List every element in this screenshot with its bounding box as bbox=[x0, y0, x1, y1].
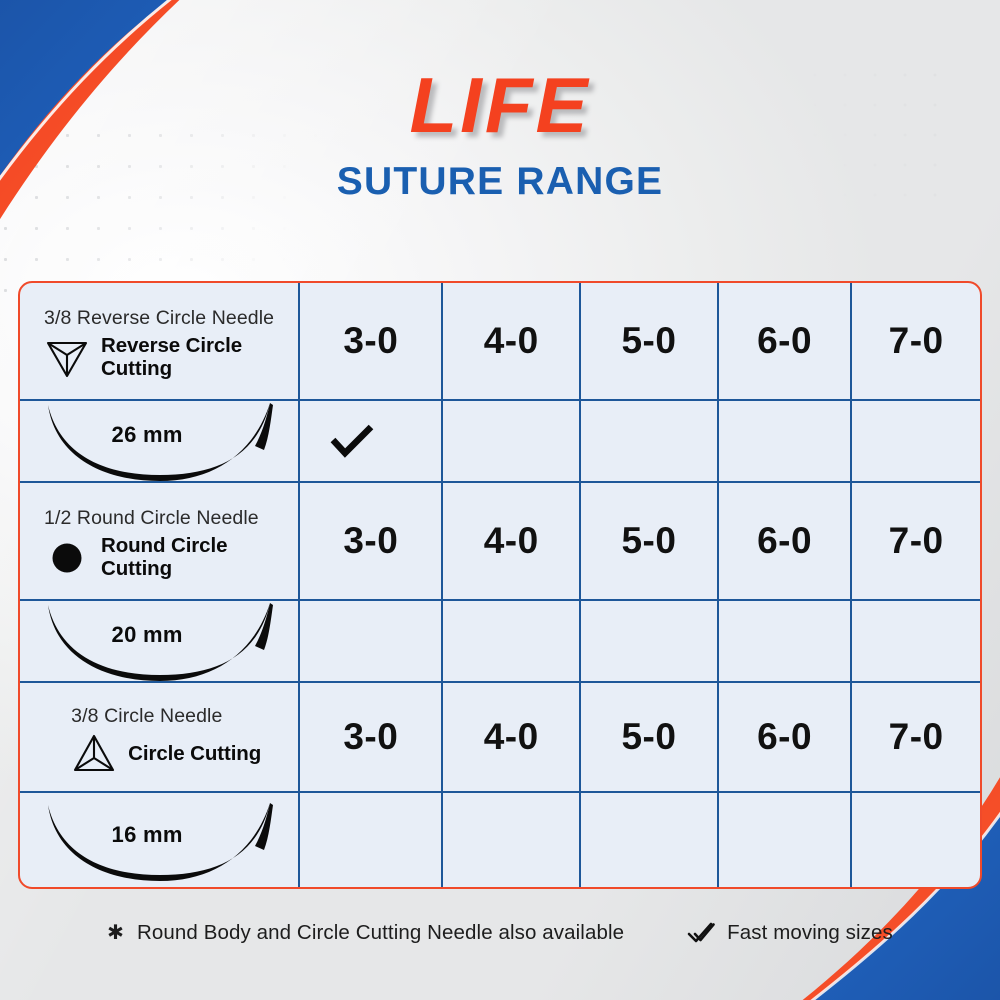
size-cell[interactable]: 7-0 bbox=[852, 283, 980, 401]
size-label: 5-0 bbox=[621, 716, 676, 758]
suture-range-table: 3/8 Reverse Circle NeedleReverse Circle … bbox=[18, 281, 982, 889]
size-label: 3-0 bbox=[343, 320, 398, 362]
needle-length-label: 26 mm bbox=[112, 422, 183, 448]
size-cell[interactable]: 5-0 bbox=[581, 483, 719, 601]
asterisk-icon: ✱ bbox=[107, 923, 124, 943]
size-label: 5-0 bbox=[621, 520, 676, 562]
needle-length-cell: 20 mm bbox=[20, 601, 300, 683]
check-icon bbox=[329, 424, 375, 458]
size-cell[interactable]: 5-0 bbox=[581, 283, 719, 401]
footer-legend-text: Fast moving sizes bbox=[727, 921, 893, 945]
size-cell[interactable]: 5-0 bbox=[581, 683, 719, 793]
size-cell[interactable]: 3-0 bbox=[300, 483, 443, 601]
inverted-triangle-icon bbox=[44, 336, 90, 380]
cutting-type-label: Circle Cutting bbox=[128, 743, 261, 766]
needle-type-label: 1/2 Round Circle Needle bbox=[44, 507, 288, 530]
availability-empty-cell[interactable] bbox=[719, 401, 852, 483]
availability-empty-cell[interactable] bbox=[300, 601, 443, 683]
size-label: 6-0 bbox=[757, 716, 812, 758]
double-check-icon bbox=[686, 920, 716, 946]
needle-description: 3/8 Circle NeedleCircle Cutting bbox=[47, 689, 271, 785]
availability-tick-cell[interactable] bbox=[300, 401, 443, 483]
size-label: 5-0 bbox=[621, 320, 676, 362]
needle-length-label: 20 mm bbox=[112, 622, 183, 648]
needle-description: 3/8 Reverse Circle NeedleReverse Circle … bbox=[20, 291, 298, 391]
footer-notes: ✱ Round Body and Circle Cutting Needle a… bbox=[0, 920, 1000, 946]
availability-empty-cell[interactable] bbox=[443, 601, 581, 683]
size-cell[interactable]: 4-0 bbox=[443, 283, 581, 401]
page-header: LIFE SUTURE RANGE bbox=[0, 0, 1000, 204]
size-cell[interactable]: 6-0 bbox=[719, 483, 852, 601]
needle-length-label: 16 mm bbox=[112, 822, 183, 848]
needle-description-cell: 3/8 Circle NeedleCircle Cutting bbox=[20, 683, 300, 793]
size-cell[interactable]: 4-0 bbox=[443, 683, 581, 793]
availability-empty-cell[interactable] bbox=[581, 793, 719, 889]
needle-description-cell: 3/8 Reverse Circle NeedleReverse Circle … bbox=[20, 283, 300, 401]
size-cell[interactable]: 6-0 bbox=[719, 283, 852, 401]
size-label: 4-0 bbox=[484, 716, 539, 758]
page-title: LIFE bbox=[0, 68, 1000, 142]
filled-circle-icon bbox=[47, 538, 87, 578]
size-label: 3-0 bbox=[343, 520, 398, 562]
size-label: 7-0 bbox=[889, 320, 944, 362]
availability-empty-cell[interactable] bbox=[443, 793, 581, 889]
needle-description-cell: 1/2 Round Circle NeedleRound Circle Cutt… bbox=[20, 483, 300, 601]
filled-circle-icon bbox=[44, 537, 90, 579]
size-label: 4-0 bbox=[484, 320, 539, 362]
size-cell[interactable]: 7-0 bbox=[852, 683, 980, 793]
inverted-triangle-icon bbox=[44, 337, 90, 379]
footer-note-text: Round Body and Circle Cutting Needle als… bbox=[137, 921, 624, 945]
size-cell[interactable]: 7-0 bbox=[852, 483, 980, 601]
upright-triangle-icon bbox=[71, 732, 117, 776]
size-cell[interactable]: 4-0 bbox=[443, 483, 581, 601]
availability-empty-cell[interactable] bbox=[581, 601, 719, 683]
footer-legend: Fast moving sizes bbox=[686, 920, 893, 946]
needle-type-label: 3/8 Circle Needle bbox=[71, 705, 261, 728]
size-cell[interactable]: 6-0 bbox=[719, 683, 852, 793]
page-subtitle: SUTURE RANGE bbox=[0, 160, 1000, 204]
cutting-type-label: Reverse Circle Cutting bbox=[101, 335, 288, 381]
size-label: 4-0 bbox=[484, 520, 539, 562]
availability-empty-cell[interactable] bbox=[719, 601, 852, 683]
availability-empty-cell[interactable] bbox=[852, 601, 980, 683]
size-label: 6-0 bbox=[757, 520, 812, 562]
availability-empty-cell[interactable] bbox=[443, 401, 581, 483]
size-label: 7-0 bbox=[889, 716, 944, 758]
availability-empty-cell[interactable] bbox=[581, 401, 719, 483]
availability-empty-cell[interactable] bbox=[300, 793, 443, 889]
footer-note: ✱ Round Body and Circle Cutting Needle a… bbox=[107, 921, 624, 945]
size-label: 6-0 bbox=[757, 320, 812, 362]
needle-description: 1/2 Round Circle NeedleRound Circle Cutt… bbox=[20, 491, 298, 591]
needle-length-cell: 26 mm bbox=[20, 401, 300, 483]
availability-empty-cell[interactable] bbox=[852, 401, 980, 483]
size-label: 7-0 bbox=[889, 520, 944, 562]
needle-type-label: 3/8 Reverse Circle Needle bbox=[44, 307, 288, 330]
size-cell[interactable]: 3-0 bbox=[300, 683, 443, 793]
size-label: 3-0 bbox=[343, 716, 398, 758]
upright-triangle-icon bbox=[71, 733, 117, 775]
needle-length-cell: 16 mm bbox=[20, 793, 300, 889]
availability-empty-cell[interactable] bbox=[719, 793, 852, 889]
size-cell[interactable]: 3-0 bbox=[300, 283, 443, 401]
cutting-type-label: Round Circle Cutting bbox=[101, 535, 288, 581]
availability-empty-cell[interactable] bbox=[852, 793, 980, 889]
